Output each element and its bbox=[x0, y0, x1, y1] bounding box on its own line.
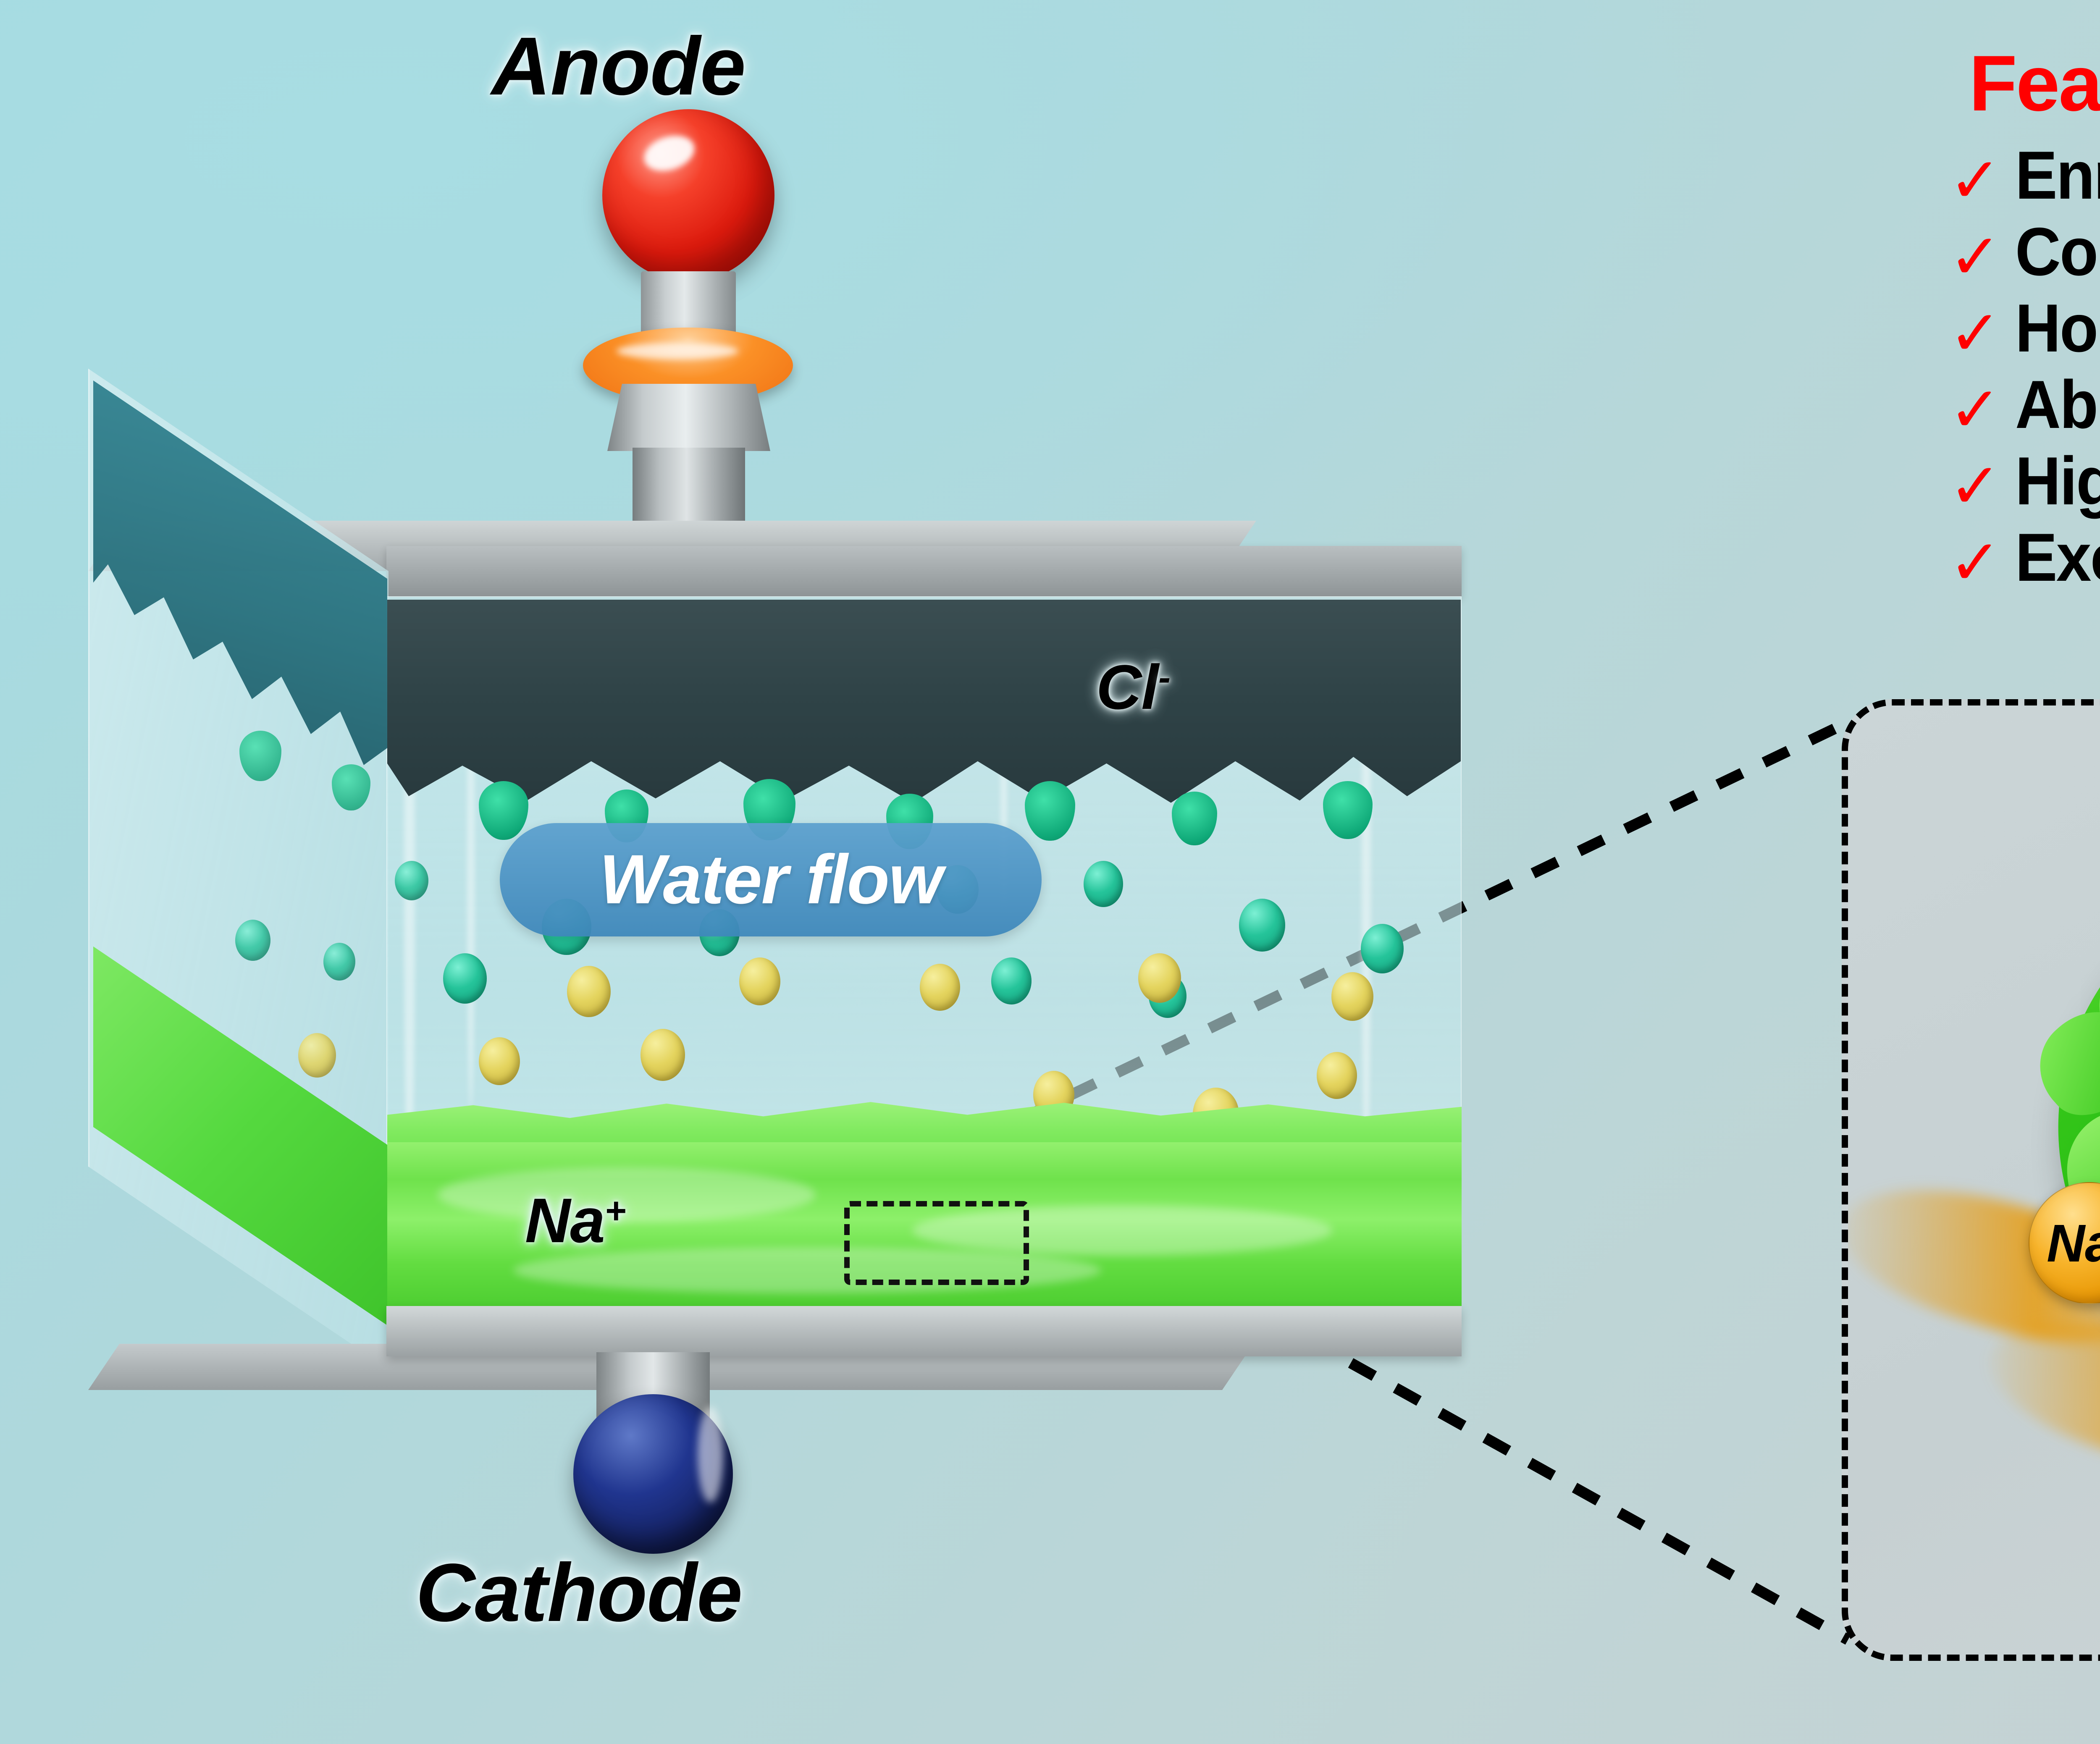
features-title: Features and Advantages bbox=[1969, 38, 2100, 129]
feature-item: ✓ Hollow Nanotube Architecture bbox=[1949, 292, 2100, 365]
sodium-ion-label: Na+ bbox=[525, 1184, 626, 1257]
check-icon: ✓ bbox=[1949, 292, 2002, 365]
cathode-terminal-sphere bbox=[573, 1394, 733, 1554]
feature-item: ✓ Excellent Long-Term Stability bbox=[1949, 522, 2100, 594]
check-icon: ✓ bbox=[1949, 216, 2002, 288]
feature-label: Excellent Long-Term Stability bbox=[2015, 522, 2100, 594]
anode-pedestal bbox=[607, 384, 770, 451]
material-name-label: HA-TiO2@HCNT bbox=[1848, 1516, 2100, 1608]
feature-label: Hollow Nanotube Architecture bbox=[2015, 292, 2100, 365]
check-icon: ✓ bbox=[1949, 445, 2002, 517]
feature-label: Conductive Carbon Coating bbox=[2015, 216, 2100, 288]
chloride-ion-label: Cl- bbox=[1096, 651, 1170, 724]
feature-item: ✓ High-Capacity Desalination bbox=[1949, 445, 2100, 517]
anode-label: Anode bbox=[491, 19, 745, 113]
check-icon: ✓ bbox=[1949, 139, 2002, 212]
feature-label: Enriched Oxygen Vacancies bbox=[2015, 139, 2100, 212]
check-icon: ✓ bbox=[1949, 522, 2002, 594]
bottom-current-collector bbox=[386, 1306, 1462, 1356]
anode-terminal-sphere bbox=[602, 109, 774, 281]
cathode-label: Cathode bbox=[416, 1545, 742, 1640]
desalination-cell-diagram: Anode bbox=[63, 109, 1483, 1545]
feature-item: ✓ Conductive Carbon Coating bbox=[1949, 216, 2100, 288]
feature-item: ✓ Enriched Oxygen Vacancies bbox=[1949, 139, 2100, 212]
zoom-source-region bbox=[844, 1201, 1029, 1285]
check-icon: ✓ bbox=[1949, 369, 2002, 441]
feature-label: High-Capacity Desalination bbox=[2015, 445, 2100, 517]
anode-terminal-assembly bbox=[559, 109, 819, 559]
features-panel: Features and Advantages ✓ Enriched Oxyge… bbox=[1949, 38, 2100, 598]
feature-label: Abundant Exterior Nanosheets bbox=[2015, 369, 2100, 441]
top-current-collector bbox=[386, 546, 1462, 596]
anode-active-layer bbox=[387, 600, 1461, 818]
material-inset-panel: e- e- Na+ Na+ HA-TiO2@HCNT bbox=[1842, 699, 2100, 1661]
water-flow-label: Water flow bbox=[599, 840, 942, 920]
water-flow-badge: Water flow bbox=[500, 823, 1042, 936]
graphical-abstract: Anode bbox=[0, 0, 2100, 1744]
feature-item: ✓ Abundant Exterior Nanosheets bbox=[1949, 369, 2100, 441]
